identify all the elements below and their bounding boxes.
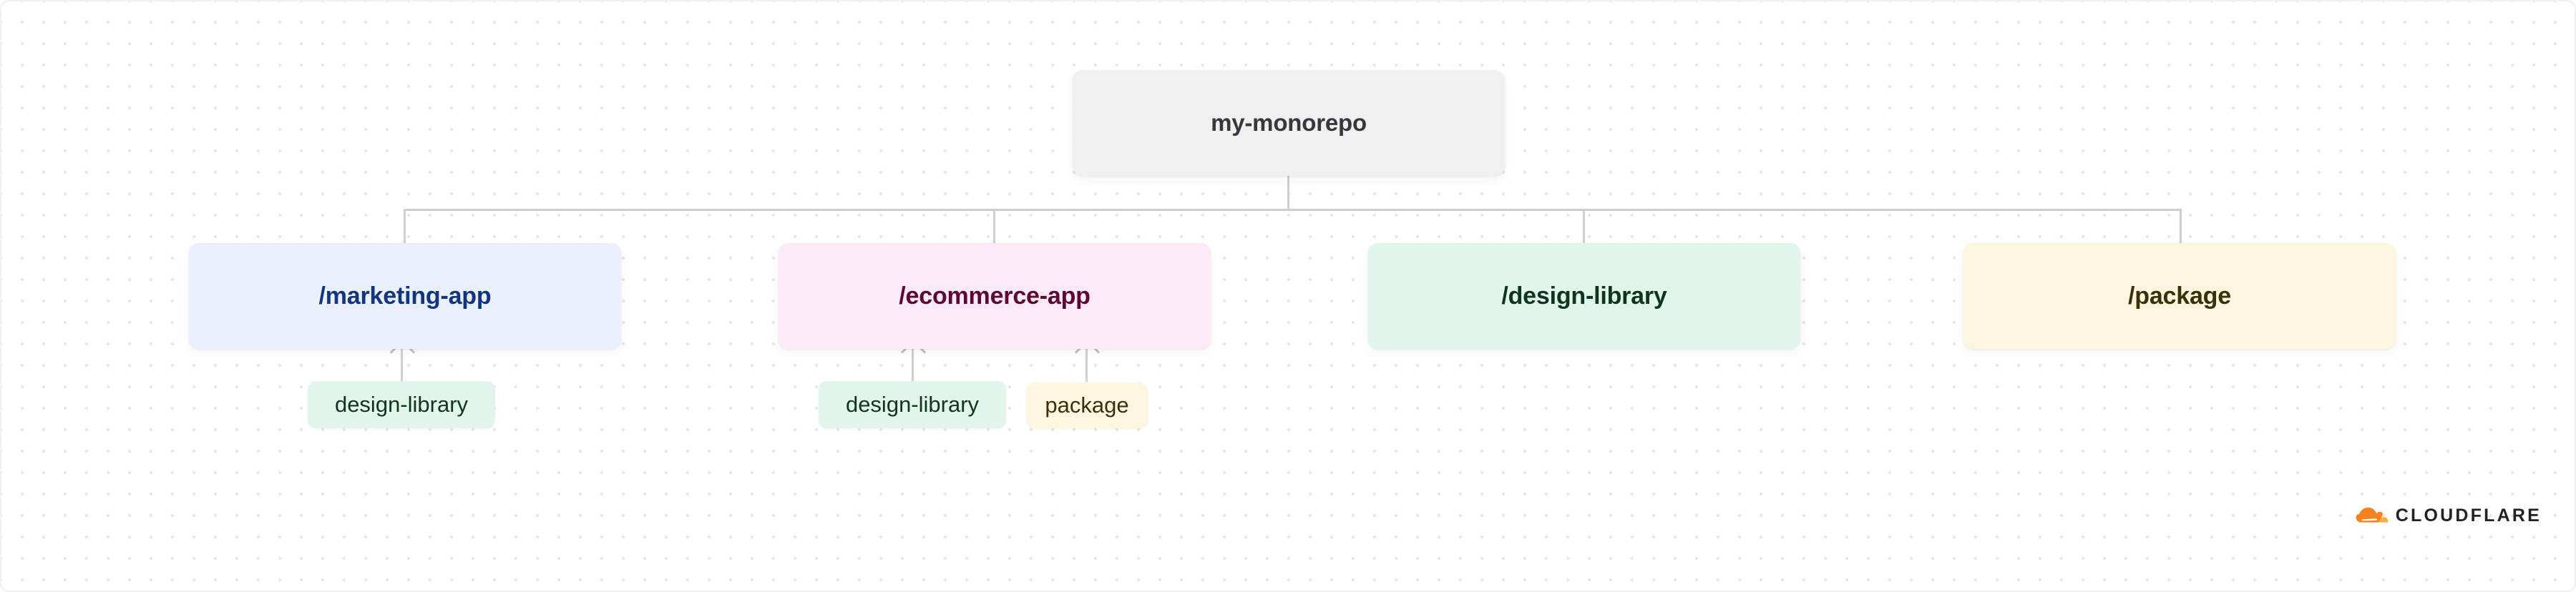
node-package[interactable]: /package bbox=[1963, 243, 2396, 349]
node-design-library[interactable]: /design-library bbox=[1368, 243, 1800, 349]
cloudflare-logo: CLOUDFLARE bbox=[2356, 493, 2542, 538]
dependency-tag-label: package bbox=[1045, 393, 1128, 418]
connector-drop-design-library bbox=[1583, 209, 1585, 243]
node-root-label: my-monorepo bbox=[1211, 109, 1367, 137]
dependency-tag-ecommerce-design-library[interactable]: design-library bbox=[819, 381, 1006, 428]
node-marketing-app[interactable]: /marketing-app bbox=[189, 243, 621, 349]
cloudflare-cloud-icon bbox=[2356, 500, 2389, 531]
dependency-tag-ecommerce-package[interactable]: package bbox=[1026, 383, 1148, 428]
dependency-tag-label: design-library bbox=[846, 392, 979, 418]
dependency-tag-label: design-library bbox=[335, 392, 468, 418]
node-package-label: /package bbox=[2128, 282, 2231, 310]
connector-drop-ecommerce bbox=[993, 209, 995, 243]
connector-drop-marketing bbox=[404, 209, 406, 243]
dependency-tag-marketing-design-library[interactable]: design-library bbox=[308, 381, 495, 428]
node-marketing-app-label: /marketing-app bbox=[319, 282, 492, 310]
node-design-library-label: /design-library bbox=[1501, 282, 1667, 310]
node-ecommerce-app-label: /ecommerce-app bbox=[899, 282, 1090, 310]
node-ecommerce-app[interactable]: /ecommerce-app bbox=[779, 243, 1211, 349]
node-root[interactable]: my-monorepo bbox=[1073, 70, 1505, 176]
cloudflare-wordmark: CLOUDFLARE bbox=[2396, 507, 2542, 525]
connector-bus bbox=[404, 209, 2181, 211]
diagram-canvas: my-monorepo /marketing-app /ecommerce-ap… bbox=[0, 0, 2576, 592]
connector-drop-package bbox=[2180, 209, 2182, 243]
connector-root-stub bbox=[1287, 176, 1289, 210]
